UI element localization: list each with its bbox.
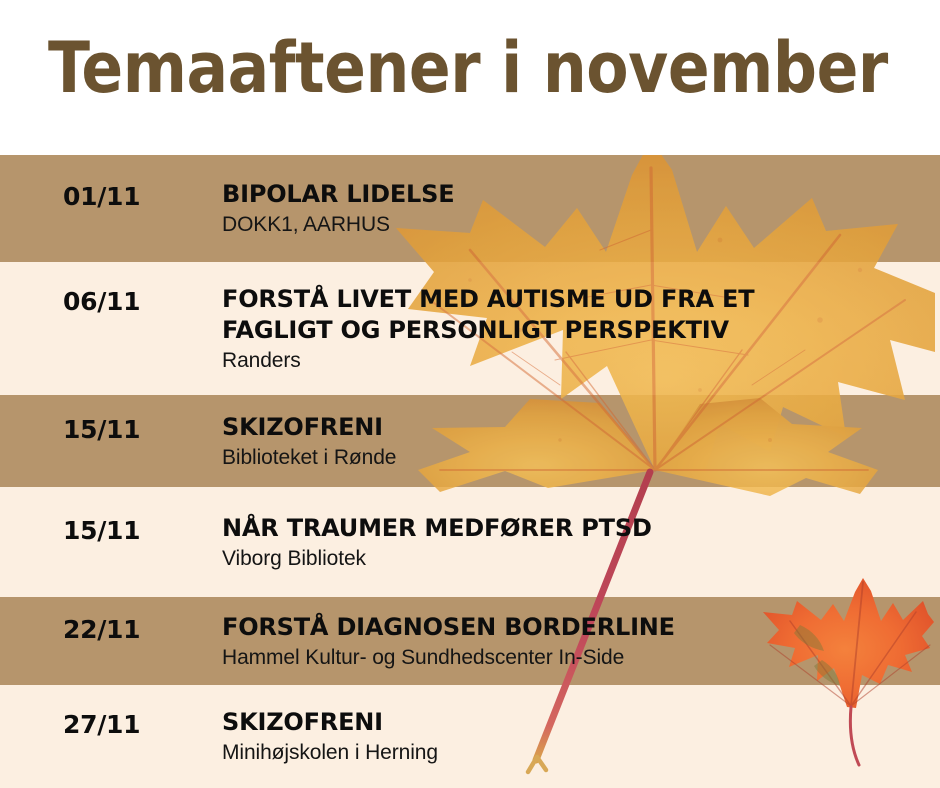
event-venue: Randers [222,347,930,374]
event-row[interactable]: 15/11SKIZOFRENIBiblioteket i Rønde [0,395,940,487]
event-title: FORSTÅ DIAGNOSEN BORDERLINE [222,612,930,643]
event-title: NÅR TRAUMER MEDFØRER PTSD [222,513,930,544]
event-title-line: FORSTÅ LIVET MED AUTISME UD FRA ET [222,284,930,315]
poster-canvas: 01/11BIPOLAR LIDELSEDOKK1, AARHUS06/11FO… [0,0,940,788]
event-title: SKIZOFRENI [222,412,930,443]
event-title-line: SKIZOFRENI [222,412,930,443]
event-text-block: FORSTÅ DIAGNOSEN BORDERLINEHammel Kultur… [222,612,930,671]
event-date: 22/11 [63,615,140,645]
event-title: BIPOLAR LIDELSE [222,179,930,210]
event-title-line: BIPOLAR LIDELSE [222,179,930,210]
event-venue: Viborg Bibliotek [222,545,930,572]
event-title-line: FAGLIGT OG PERSONLIGT PERSPEKTIV [222,315,930,346]
event-venue: DOKK1, AARHUS [222,211,930,238]
event-text-block: SKIZOFRENIBiblioteket i Rønde [222,412,930,471]
event-title: FORSTÅ LIVET MED AUTISME UD FRA ETFAGLIG… [222,284,930,346]
event-title-line: SKIZOFRENI [222,707,930,738]
poster-header: Temaaftener i november [0,0,940,155]
event-text-block: NÅR TRAUMER MEDFØRER PTSDViborg Bibliote… [222,513,930,572]
event-venue: Minihøjskolen i Herning [222,739,930,766]
event-title-line: FORSTÅ DIAGNOSEN BORDERLINE [222,612,930,643]
page-title: Temaaftener i november [48,26,888,110]
event-venue: Hammel Kultur- og Sundhedscenter In-Side [222,644,930,671]
event-row[interactable]: 27/11SKIZOFRENIMinihøjskolen i Herning [0,685,940,788]
event-date: 15/11 [63,516,140,546]
event-row[interactable]: 22/11FORSTÅ DIAGNOSEN BORDERLINEHammel K… [0,597,940,685]
event-date: 15/11 [63,415,140,445]
event-title: SKIZOFRENI [222,707,930,738]
event-venue: Biblioteket i Rønde [222,444,930,471]
event-date: 01/11 [63,182,140,212]
event-text-block: BIPOLAR LIDELSEDOKK1, AARHUS [222,179,930,238]
event-text-block: FORSTÅ LIVET MED AUTISME UD FRA ETFAGLIG… [222,284,930,374]
event-row[interactable]: 15/11NÅR TRAUMER MEDFØRER PTSDViborg Bib… [0,487,940,597]
event-title-line: NÅR TRAUMER MEDFØRER PTSD [222,513,930,544]
event-date: 06/11 [63,287,140,317]
event-text-block: SKIZOFRENIMinihøjskolen i Herning [222,707,930,766]
event-date: 27/11 [63,710,140,740]
event-row[interactable]: 01/11BIPOLAR LIDELSEDOKK1, AARHUS [0,155,940,262]
event-row[interactable]: 06/11FORSTÅ LIVET MED AUTISME UD FRA ETF… [0,262,940,395]
